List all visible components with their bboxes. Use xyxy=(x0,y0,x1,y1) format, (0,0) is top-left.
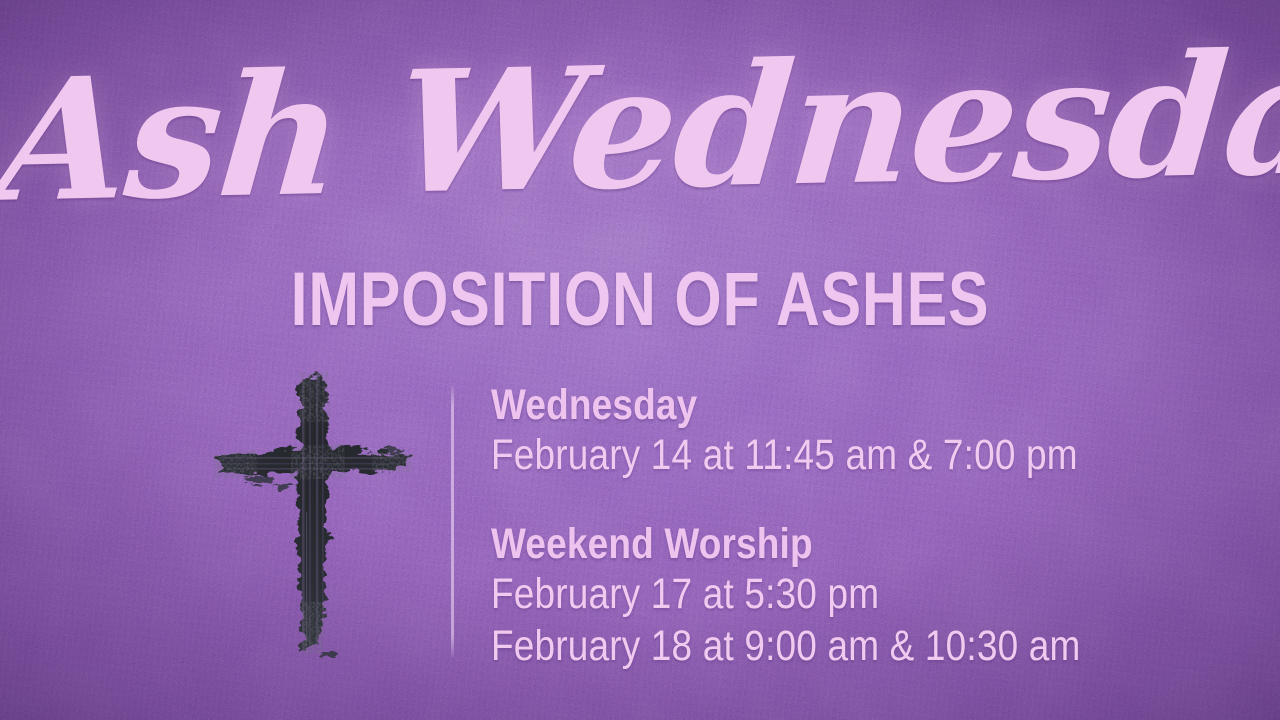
ash-cross-icon xyxy=(196,362,428,658)
page-title: Ash Wednesday xyxy=(0,42,1280,210)
service-schedule: Wednesday February 14 at 11:45 am & 7:00… xyxy=(491,381,1231,683)
schedule-heading: Weekend Worship xyxy=(491,520,1127,568)
schedule-group-wednesday: Wednesday February 14 at 11:45 am & 7:00… xyxy=(491,381,1231,482)
vertical-divider xyxy=(451,385,454,657)
schedule-line: February 17 at 5:30 pm xyxy=(491,568,1127,620)
page-title-text: Ash Wednesday xyxy=(0,27,1280,225)
page-subtitle: IMPOSITION OF ASHES xyxy=(128,262,1152,338)
schedule-line: February 14 at 11:45 am & 7:00 pm xyxy=(491,429,1127,481)
schedule-group-weekend: Weekend Worship February 17 at 5:30 pm F… xyxy=(491,520,1231,673)
schedule-heading: Wednesday xyxy=(491,381,1127,429)
ash-wednesday-slide: Ash Wednesday IMPOSITION OF ASHES xyxy=(0,0,1280,720)
schedule-line: February 18 at 9:00 am & 10:30 am xyxy=(491,620,1127,672)
